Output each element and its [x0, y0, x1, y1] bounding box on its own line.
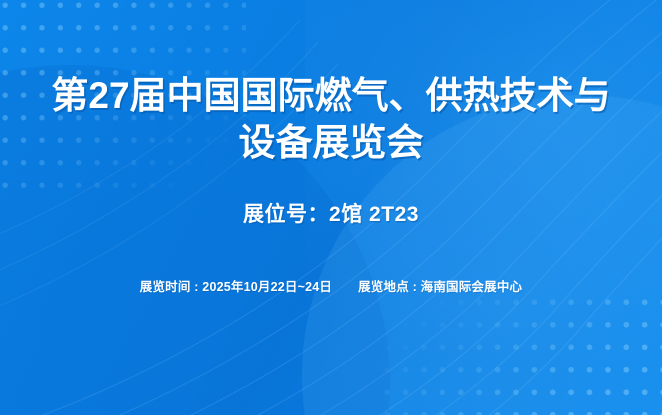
- banner-title: 第27届中国国际燃气、供热技术与 设备展览会: [31, 72, 631, 166]
- exhibition-venue: 展览地点 : 海南国际会展中心: [358, 276, 522, 295]
- banner-title-line-2: 设备展览会: [31, 119, 631, 166]
- exhibition-date: 展览时间 : 2025年10月22日~24日: [140, 276, 332, 295]
- banner-title-line-1: 第27届中国国际燃气、供热技术与: [31, 72, 631, 119]
- exhibition-banner: 第27届中国国际燃气、供热技术与 设备展览会 展位号：2馆 2T23 展览时间 …: [0, 0, 662, 415]
- banner-content: 第27届中国国际燃气、供热技术与 设备展览会 展位号：2馆 2T23 展览时间 …: [0, 0, 662, 415]
- booth-number: 展位号：2馆 2T23: [243, 198, 419, 228]
- banner-meta: 展览时间 : 2025年10月22日~24日 展览地点 : 海南国际会展中心: [140, 276, 522, 295]
